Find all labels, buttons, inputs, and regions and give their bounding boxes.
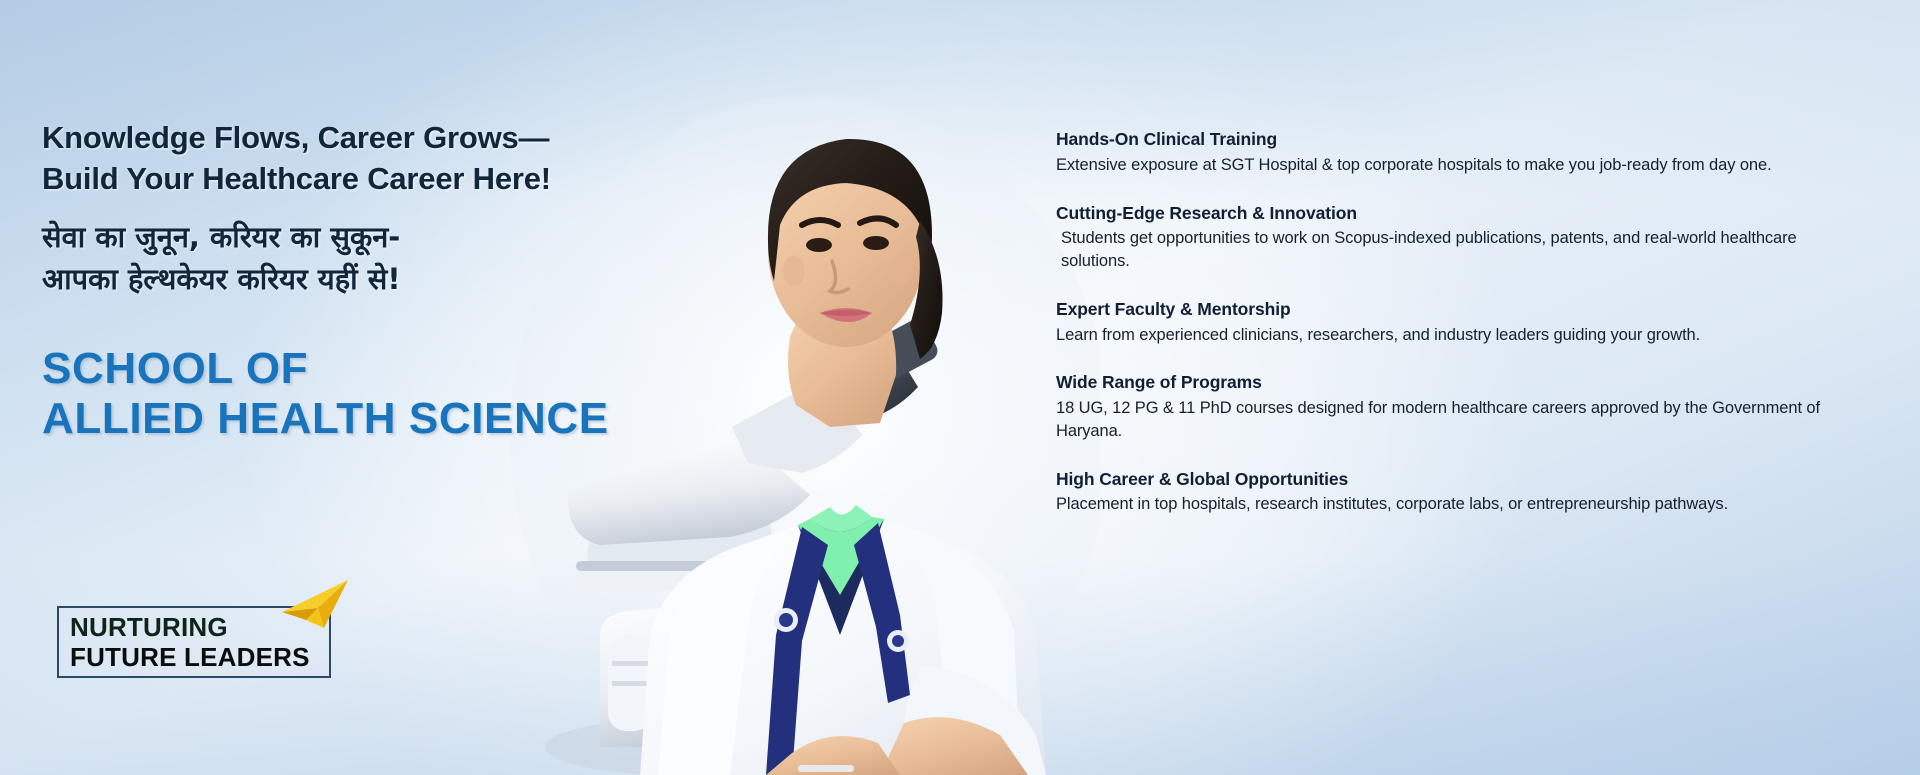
- feature-description: 18 UG, 12 PG & 11 PhD courses designed f…: [1056, 397, 1856, 443]
- badge-line-2: FUTURE LEADERS: [70, 642, 310, 672]
- feature-title: Expert Faculty & Mentorship: [1056, 298, 1892, 321]
- headline-line-2: Build Your Healthcare Career Here!: [42, 159, 682, 200]
- paper-plane-icon: [278, 578, 350, 636]
- school-title-line-2: ALLIED HEALTH SCIENCE: [42, 394, 682, 444]
- feature-description: Extensive exposure at SGT Hospital & top…: [1056, 154, 1856, 177]
- feature-title: High Career & Global Opportunities: [1056, 468, 1892, 491]
- headline-hindi: सेवा का जुनून, करियर का सुकून- आपका हेल्…: [42, 216, 682, 300]
- headline-line-1: Knowledge Flows, Career Grows—: [42, 120, 549, 155]
- nurturing-future-leaders-badge: NURTURING FUTURE LEADERS: [44, 578, 364, 688]
- feature-item: Wide Range of Programs 18 UG, 12 PG & 11…: [1056, 371, 1892, 442]
- feature-item: Cutting-Edge Research & Innovation Stude…: [1056, 202, 1892, 273]
- feature-title: Hands-On Clinical Training: [1056, 128, 1892, 151]
- feature-item: Hands-On Clinical Training Extensive exp…: [1056, 128, 1892, 177]
- badge-line-1: NURTURING: [70, 612, 310, 642]
- left-content-column: Knowledge Flows, Career Grows— Build You…: [42, 118, 682, 444]
- promo-banner: Knowledge Flows, Career Grows— Build You…: [0, 0, 1920, 775]
- school-title-line-1: SCHOOL OF: [42, 344, 308, 393]
- feature-description: Students get opportunities to work on Sc…: [1056, 227, 1856, 273]
- feature-list: Hands-On Clinical Training Extensive exp…: [1056, 128, 1892, 516]
- headline-hindi-line-2: आपका हेल्थकेयर करियर यहीं से!: [42, 258, 682, 300]
- headline: Knowledge Flows, Career Grows— Build You…: [42, 118, 682, 200]
- feature-description: Placement in top hospitals, research ins…: [1056, 493, 1856, 516]
- headline-hindi-line-1: सेवा का जुनून, करियर का सुकून-: [42, 220, 400, 254]
- school-title: SCHOOL OF ALLIED HEALTH SCIENCE: [42, 344, 682, 444]
- badge-text: NURTURING FUTURE LEADERS: [70, 612, 310, 672]
- feature-item: High Career & Global Opportunities Place…: [1056, 468, 1892, 517]
- feature-title: Cutting-Edge Research & Innovation: [1056, 202, 1892, 225]
- feature-title: Wide Range of Programs: [1056, 371, 1892, 394]
- feature-item: Expert Faculty & Mentorship Learn from e…: [1056, 298, 1892, 347]
- feature-description: Learn from experienced clinicians, resea…: [1056, 324, 1856, 347]
